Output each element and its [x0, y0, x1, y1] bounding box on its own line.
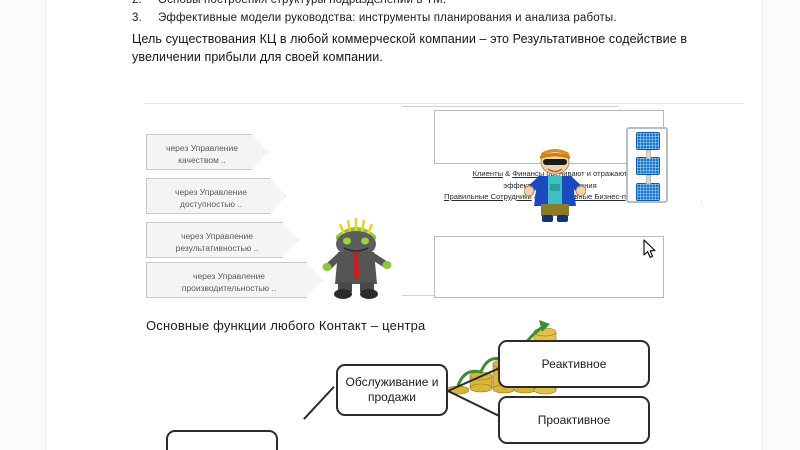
node-service-and-sales: Обслуживание и продажи: [336, 364, 448, 416]
businessman-thumbs-up-icon: [524, 146, 586, 222]
arrow-cursor-icon: [643, 239, 657, 259]
chevron-line-1: через Управление: [155, 142, 249, 154]
figure-value-chain: через Управление качеством .. через Упра…: [46, 96, 762, 311]
list-item: 3.Эффективные модели руководства: инстру…: [132, 12, 617, 24]
chevron-line-1: через Управление: [155, 186, 267, 198]
weight-block: [636, 132, 660, 150]
weight-connector: [646, 175, 651, 184]
chevron-management-availability: через Управление доступностью ..: [146, 178, 286, 214]
list-item: 2.Основы построения структуры подразделе…: [132, 0, 446, 6]
list-item-number: 2.: [132, 0, 158, 6]
connector-to-reactive: [448, 367, 502, 393]
chevron-line-2: производительностью ..: [155, 282, 303, 294]
page-gutter-left: [0, 0, 46, 450]
screenshot-canvas: 2.Основы построения структуры подразделе…: [0, 0, 800, 450]
intro-paragraph: Цель существования КЦ в любой коммерческ…: [132, 30, 744, 66]
page-gutter-right: [762, 0, 800, 450]
caption-amp-1: &: [503, 169, 512, 178]
node-proactive: Проактивное: [498, 396, 650, 444]
figure-contact-center-functions: Обслуживание и продажи Реактивное Проакт…: [46, 336, 762, 450]
document-page: 2.Основы построения структуры подразделе…: [46, 0, 762, 450]
weight-connector: [646, 150, 651, 159]
chevron-line-1: через Управление: [155, 230, 279, 242]
list-item-number: 3.: [132, 12, 158, 24]
caption-term-right-staff: Правильные Сотрудники: [444, 192, 532, 201]
panel-bottom-coins: [434, 236, 664, 298]
node-partial-offscreen: [166, 430, 278, 450]
figure-top-divider: [144, 103, 744, 104]
green-monster-suit-icon: [318, 214, 394, 300]
chevron-line-2: качеством ..: [155, 154, 249, 166]
chevron-line-2: результативностью ..: [155, 242, 279, 254]
chevron-management-effectiveness: через Управление результативностью ..: [146, 222, 298, 258]
figure2-heading: Основные функции любого Контакт – центра: [146, 318, 425, 333]
connector-to-proactive: [448, 390, 503, 418]
chevron-management-productivity: через Управление производительностью ..: [146, 262, 322, 298]
list-item-text: Эффективные модели руководства: инструме…: [158, 12, 617, 24]
weight-block: [636, 157, 660, 175]
weight-block: [636, 183, 660, 201]
chevron-management-quality: через Управление качеством ..: [146, 134, 268, 170]
chevron-line-1: через Управление: [155, 270, 303, 282]
caption-term-clients: Клиенты: [473, 169, 503, 178]
chevron-line-2: доступностью ..: [155, 198, 267, 210]
node-reactive: Реактивное: [498, 340, 650, 388]
blue-weight-stack-icon: [626, 127, 668, 203]
list-item-text: Основы построения структуры подразделени…: [158, 0, 446, 6]
connector-from-partial: [303, 386, 335, 420]
